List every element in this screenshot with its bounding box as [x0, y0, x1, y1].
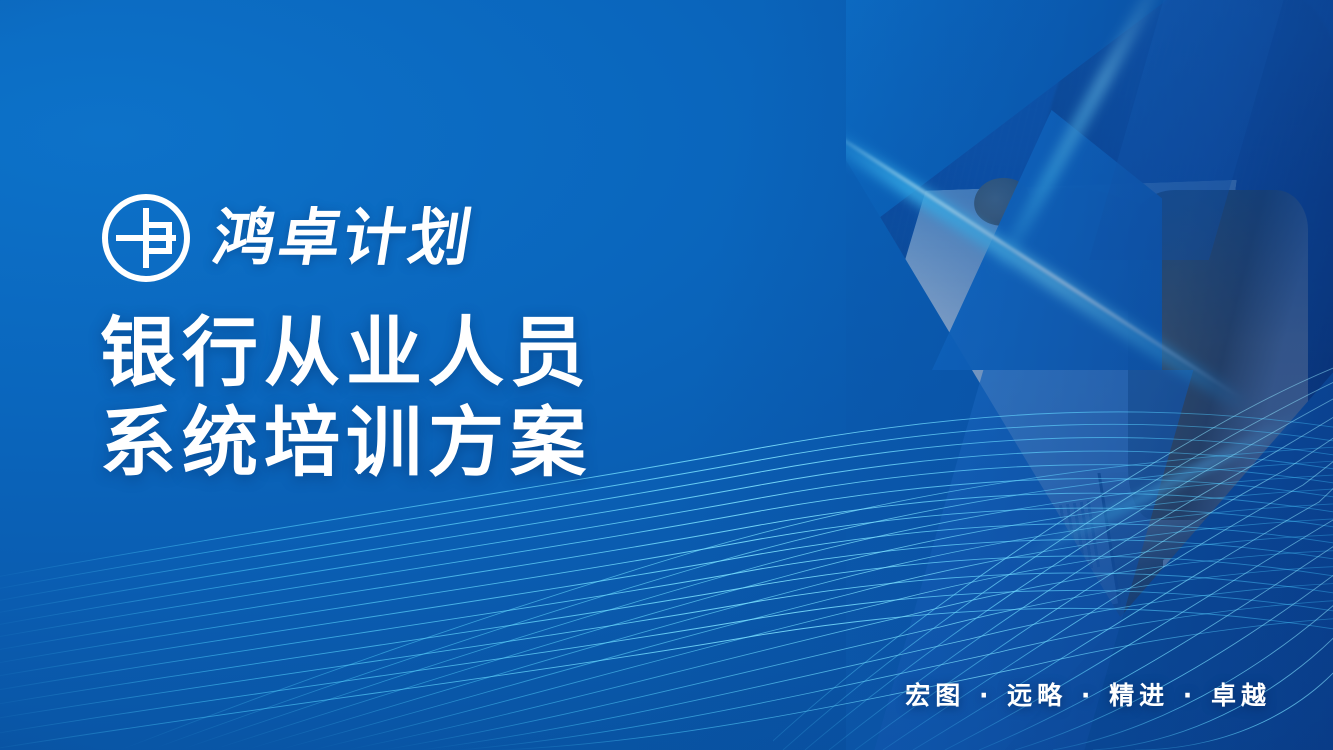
- brand-row: 鸿卓计划: [100, 190, 740, 286]
- page-title-line-1: 银行从业人员: [100, 308, 740, 398]
- cover-content: 鸿卓计划 银行从业人员 系统培训方案: [100, 190, 740, 487]
- circle-emblem-icon: [100, 192, 192, 284]
- presentation-cover-slide: 鸿卓计划 银行从业人员 系统培训方案 宏图 · 远略 · 精进 · 卓越: [0, 0, 1333, 750]
- brand-name: 鸿卓计划: [209, 207, 479, 269]
- page-title: 银行从业人员 系统培训方案: [100, 308, 740, 487]
- page-title-line-2: 系统培训方案: [100, 398, 740, 488]
- tagline: 宏图 · 远略 · 精进 · 卓越: [905, 676, 1271, 712]
